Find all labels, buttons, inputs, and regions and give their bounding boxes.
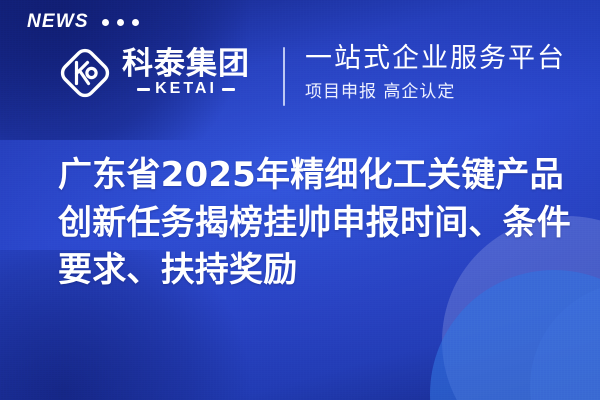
brand-name-latin-row: KETAI — [122, 81, 250, 97]
brand-logo-lockup: 科泰集团 KETAI — [56, 44, 250, 102]
news-banner: NEWS 科泰集团 KETAI — [0, 0, 600, 400]
wordmark-rule-right — [222, 88, 235, 91]
brand-name-latin: KETAI — [155, 81, 217, 97]
brand-name-cn: 科泰集团 — [122, 49, 250, 81]
ketai-diamond-k-logo-icon — [56, 44, 114, 102]
wordmark-rule-left — [137, 88, 150, 91]
page-title: 广东省2025年精细化工关键产品创新任务揭榜挂帅申报时间、条件要求、扶持奖励 — [58, 152, 578, 295]
brand-wordmark: 科泰集团 KETAI — [122, 49, 250, 98]
news-dot-2 — [117, 19, 124, 26]
news-label: NEWS — [27, 12, 89, 31]
brand-tagline: 一站式企业服务平台 项目申报 高企认定 — [305, 43, 566, 102]
tagline-primary: 一站式企业服务平台 — [305, 43, 566, 75]
header-divider — [283, 47, 285, 106]
news-dots-icon — [102, 18, 139, 26]
news-dot-1 — [102, 19, 109, 26]
tagline-secondary: 项目申报 高企认定 — [305, 82, 566, 102]
news-kicker: NEWS — [27, 12, 139, 31]
news-dot-3 — [132, 19, 139, 26]
